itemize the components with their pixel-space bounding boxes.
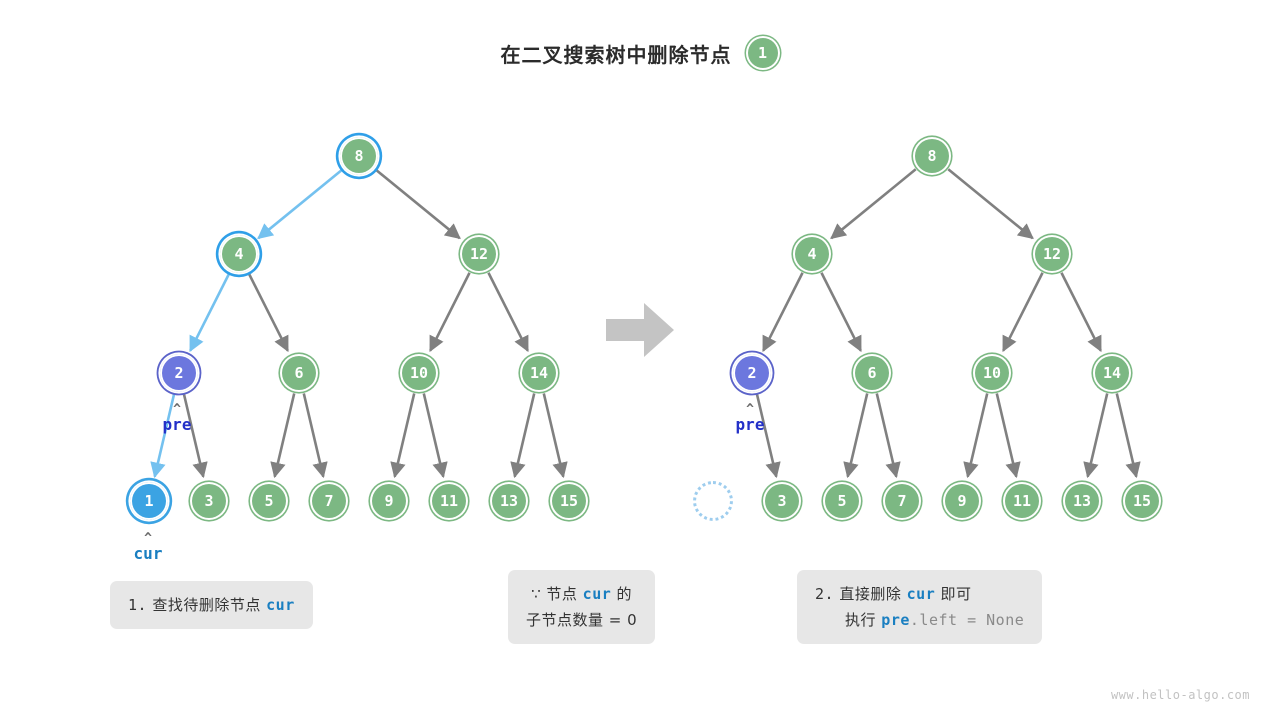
caption-right-line-2: 执行 pre.left = None bbox=[815, 607, 1024, 633]
tree-edge bbox=[248, 273, 287, 351]
tree-node-10: 10 bbox=[400, 354, 438, 392]
tree-edge bbox=[821, 273, 860, 351]
caret-icon: ^ bbox=[736, 404, 765, 415]
pointer-name: pre bbox=[163, 415, 192, 434]
tree-node-9: 9 bbox=[943, 482, 981, 520]
pointer-name: pre bbox=[736, 415, 765, 434]
tree-edge bbox=[757, 393, 777, 476]
tree-node-5: 5 bbox=[250, 482, 288, 520]
tree-edge bbox=[304, 393, 324, 476]
tree-node-4: 4 bbox=[220, 235, 258, 273]
tree-edge bbox=[430, 273, 469, 351]
tree-node-12: 12 bbox=[460, 235, 498, 273]
caption-condition: ∵ 节点 cur 的 子节点数量 = 0 bbox=[508, 570, 655, 644]
caption-mid-suffix: 的 bbox=[617, 585, 633, 603]
tree-edge bbox=[997, 393, 1017, 476]
tree-edge bbox=[848, 393, 868, 476]
tree-edge bbox=[877, 393, 897, 476]
tree-node-11: 11 bbox=[430, 482, 468, 520]
watermark: www.hello-algo.com bbox=[1111, 688, 1250, 702]
tree-node-7: 7 bbox=[883, 482, 921, 520]
caption-right-suffix: 即可 bbox=[941, 585, 972, 603]
caption-left-text: 查找待删除节点 bbox=[152, 596, 261, 614]
tree-edge bbox=[1061, 273, 1100, 351]
tree-edge bbox=[831, 169, 915, 238]
tree-node-6: 6 bbox=[280, 354, 318, 392]
tree-edge bbox=[763, 273, 802, 351]
tree-node-8: 8 bbox=[340, 137, 378, 175]
tree-edge bbox=[190, 273, 229, 351]
tree-node-15: 15 bbox=[1123, 482, 1161, 520]
tree-node-9: 9 bbox=[370, 482, 408, 520]
tree-edge bbox=[375, 169, 459, 238]
tree-edge bbox=[1003, 273, 1042, 351]
tree-node-14: 14 bbox=[520, 354, 558, 392]
tree-node-1: 1 bbox=[130, 482, 168, 520]
tree-node-12: 12 bbox=[1033, 235, 1071, 273]
deleted-node-placeholder bbox=[693, 481, 733, 521]
tree-edge bbox=[424, 393, 444, 476]
tree-edge bbox=[1088, 393, 1108, 476]
page-title: 在二叉搜索树中删除节点 1 bbox=[0, 36, 1280, 70]
tree-node-13: 13 bbox=[1063, 482, 1101, 520]
caption-right-index: 2. bbox=[815, 585, 834, 603]
caption-right-keyword-cur: cur bbox=[907, 585, 936, 603]
caption-mid-keyword: cur bbox=[583, 585, 612, 603]
tree-node-15: 15 bbox=[550, 482, 588, 520]
tree-edge bbox=[184, 393, 204, 476]
tree-edge bbox=[258, 169, 342, 238]
caption-right-line-1: 2. 直接删除 cur 即可 bbox=[815, 581, 1024, 607]
caption-right-exec-text: 执行 bbox=[845, 611, 876, 629]
caption-left-keyword: cur bbox=[266, 596, 295, 614]
tree-node-11: 11 bbox=[1003, 482, 1041, 520]
tree-node-7: 7 bbox=[310, 482, 348, 520]
tree-node-4: 4 bbox=[793, 235, 831, 273]
caption-step-2: 2. 直接删除 cur 即可 执行 pre.left = None bbox=[797, 570, 1042, 644]
caption-mid-prefix: ∵ 节点 bbox=[531, 585, 577, 603]
tree-edge bbox=[275, 393, 295, 476]
tree-node-3: 3 bbox=[763, 482, 801, 520]
tree-node-10: 10 bbox=[973, 354, 1011, 392]
caret-icon: ^ bbox=[134, 533, 163, 544]
pointer-label-pre: ^pre bbox=[736, 404, 765, 434]
tree-edge bbox=[155, 393, 175, 476]
tree-edge bbox=[395, 393, 415, 476]
caption-mid-line-1: ∵ 节点 cur 的 bbox=[526, 581, 637, 607]
tree-edge bbox=[968, 393, 988, 476]
tree-node-6: 6 bbox=[853, 354, 891, 392]
tree-edge bbox=[948, 169, 1032, 238]
caption-right-keyword-pre: pre bbox=[881, 611, 910, 629]
tree-node-5: 5 bbox=[823, 482, 861, 520]
title-text: 在二叉搜索树中删除节点 bbox=[501, 39, 732, 68]
caption-step-1: 1. 查找待删除节点 cur bbox=[110, 581, 313, 629]
caption-left-index: 1. bbox=[128, 596, 147, 614]
step-badge: 1 bbox=[746, 36, 780, 70]
tree-node-2: 2 bbox=[733, 354, 771, 392]
tree-edge bbox=[544, 393, 564, 476]
tree-edge bbox=[1117, 393, 1137, 476]
tree-node-14: 14 bbox=[1093, 354, 1131, 392]
caption-right-text: 直接删除 bbox=[839, 585, 901, 603]
tree-node-8: 8 bbox=[913, 137, 951, 175]
caption-right-code: .left = None bbox=[910, 611, 1024, 629]
transition-arrow-icon bbox=[604, 299, 676, 361]
pointer-label-pre: ^pre bbox=[163, 404, 192, 434]
pointer-name: cur bbox=[134, 544, 163, 563]
tree-edge bbox=[488, 273, 527, 351]
pointer-label-cur: ^cur bbox=[134, 533, 163, 563]
caret-icon: ^ bbox=[163, 404, 192, 415]
tree-edge bbox=[515, 393, 535, 476]
tree-node-13: 13 bbox=[490, 482, 528, 520]
diagram-canvas: 在二叉搜索树中删除节点 1 841226101413579111315^pre^… bbox=[0, 0, 1280, 720]
caption-mid-line-2: 子节点数量 = 0 bbox=[526, 607, 637, 633]
tree-node-2: 2 bbox=[160, 354, 198, 392]
tree-node-3: 3 bbox=[190, 482, 228, 520]
